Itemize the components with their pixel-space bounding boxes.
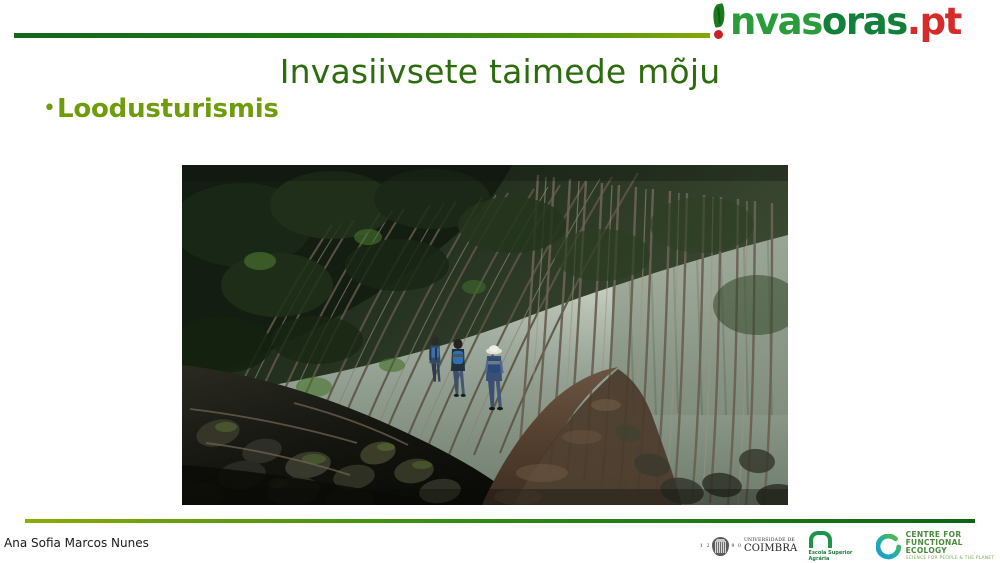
coimbra-line2: COIMBRA (744, 544, 798, 554)
footer-divider-rule (25, 519, 975, 523)
centre-for-functional-ecology-logo: CENTRE FOR FUNCTIONAL ECOLOGY SCIENCE FO… (876, 531, 996, 562)
ring-icon (876, 534, 902, 560)
author-name: Ana Sofia Marcos Nunes (4, 536, 149, 550)
brand-word-part2: oras (822, 1, 907, 43)
bullet-list-item: • Loodusturismis (43, 94, 279, 124)
arch-icon (809, 531, 832, 548)
escola-superior-agraria-logo: Escola Superior Agrária (809, 531, 862, 562)
brand-word-part1: nvas (730, 1, 822, 43)
bullet-point-icon: • (43, 98, 56, 120)
header-divider-rule (14, 33, 710, 38)
cfe-line2: FUNCTIONAL ECOLOGY (906, 539, 996, 556)
page-title: Invasiivsete taimede mõju (0, 52, 1000, 91)
esa-line2: Agrária (809, 556, 830, 562)
forest-trail-photo (182, 165, 788, 505)
invasoras-brand-logo[interactable]: nvasoras.pt (706, 1, 994, 43)
university-of-coimbra-logo: 1 2 9 0 UNIVERSIDADE DE COIMBRA (700, 537, 803, 556)
partner-logos: 1 2 9 0 UNIVERSIDADE DE COIMBRA Escola S… (700, 530, 996, 563)
red-dot-icon (714, 30, 723, 39)
bullet-item-label: Loodusturismis (57, 94, 279, 124)
brand-tld: .pt (907, 1, 961, 43)
forest-scene-illustration (182, 165, 788, 505)
cfe-tagline: SCIENCE FOR PEOPLE & THE PLANET (906, 557, 996, 562)
leaf-icon (706, 2, 732, 42)
coimbra-year-right: 9 0 (731, 544, 741, 549)
coimbra-year-left: 1 2 (700, 544, 710, 549)
brand-wordmark: nvasoras.pt (730, 2, 961, 42)
coimbra-crest-icon (712, 537, 729, 556)
